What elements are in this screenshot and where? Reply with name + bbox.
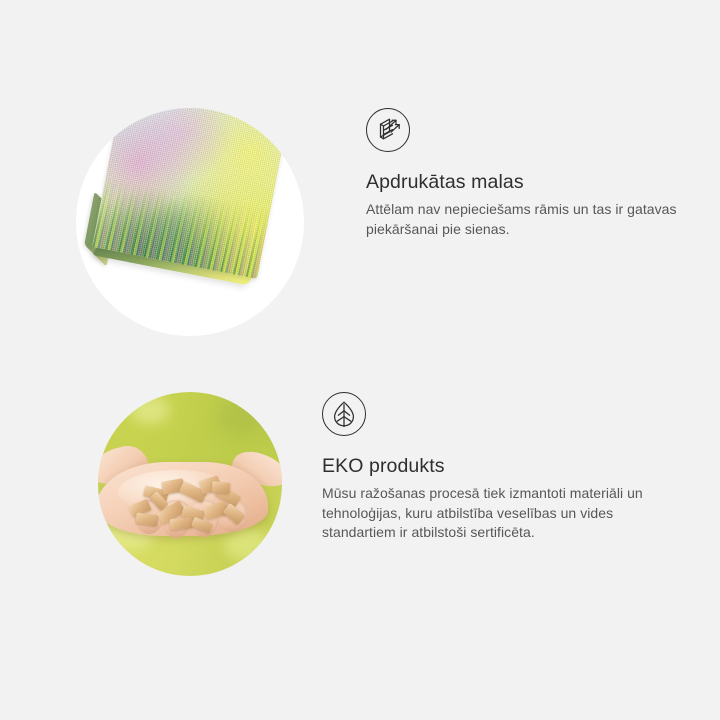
- bokeh-blob: [130, 396, 170, 424]
- feature-printed-edges: Apdrukātas malas Attēlam nav nepieciešam…: [0, 108, 716, 336]
- feature-description: Mūsu ražošanas procesā tiek izmantoti ma…: [322, 484, 670, 543]
- wood-chip: [211, 481, 230, 494]
- wood-chip: [222, 503, 245, 525]
- feature-text-column: EKO produkts Mūsu ražošanas procesā tiek…: [322, 392, 670, 543]
- page-title: Apdrukātas malas: [366, 171, 716, 194]
- photo-circle-mask: [76, 108, 304, 336]
- wood-chip: [135, 513, 158, 527]
- canvas-block: [78, 108, 296, 302]
- feature-description: Attēlam nav nepieciešams rāmis un tas ir…: [366, 200, 716, 239]
- page-title: EKO produkts: [322, 455, 670, 478]
- wrapped-canvas-edge-icon: [366, 108, 410, 152]
- wood-chip: [169, 517, 192, 530]
- feature-text-column: Apdrukātas malas Attēlam nav nepieciešam…: [366, 108, 716, 239]
- wood-chip-pile: [126, 478, 250, 532]
- canvas-print-corner-photo: [76, 108, 304, 336]
- bokeh-blob: [218, 400, 262, 434]
- hands-holding-wood-chips-photo: [98, 392, 282, 576]
- photo-circle-mask: [98, 392, 282, 576]
- infographic-panel: Apdrukātas malas Attēlam nav nepieciešam…: [0, 0, 720, 720]
- leaf-icon: [322, 392, 366, 436]
- wood-chip: [191, 517, 213, 534]
- cupped-hands: [98, 444, 282, 540]
- feature-eco-product: EKO produkts Mūsu ražošanas procesā tiek…: [0, 392, 670, 576]
